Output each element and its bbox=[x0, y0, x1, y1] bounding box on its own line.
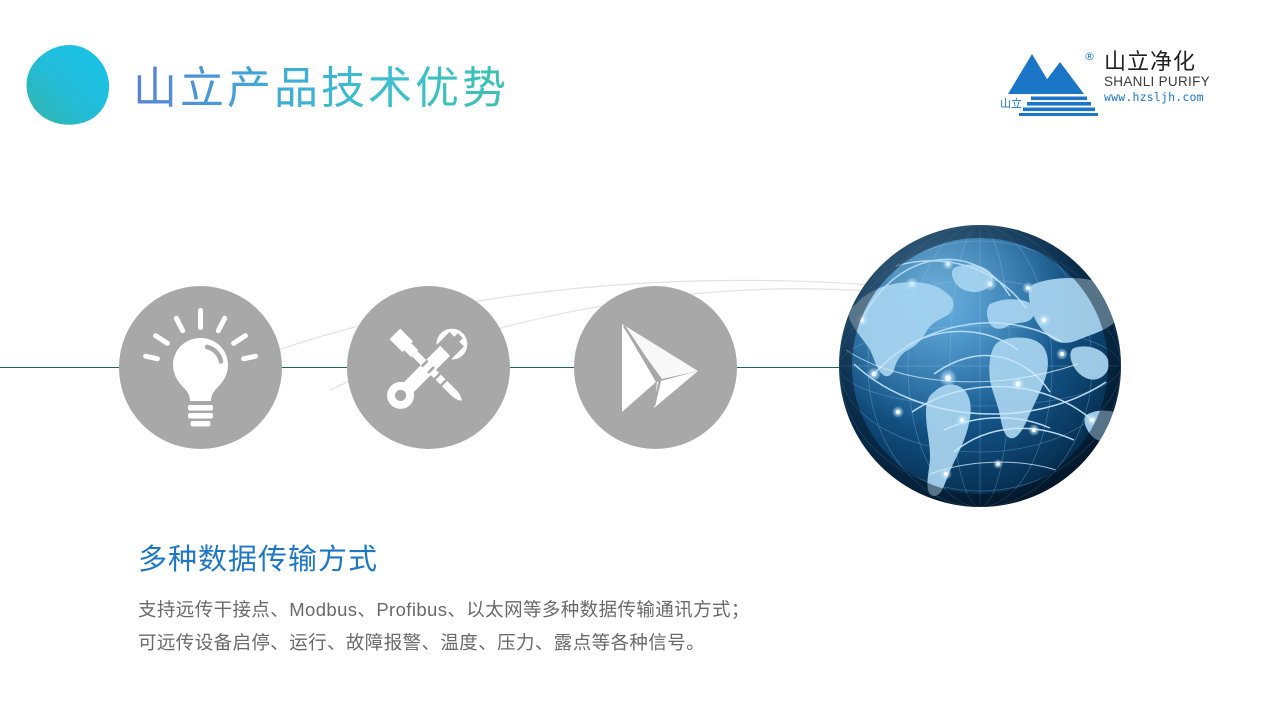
node-tools[interactable] bbox=[347, 286, 510, 449]
content-body-line-1: 支持远传干接点、Modbus、Profibus、以太网等多种数据传输通讯方式； bbox=[138, 593, 750, 626]
logo-wordmark: 山立净化 SHANLI PURIFY www.hzsljh.com bbox=[1104, 49, 1226, 104]
logo-company-cn: 山立净化 bbox=[1104, 49, 1226, 74]
logo-website: www.hzsljh.com bbox=[1104, 90, 1226, 104]
node-paper-plane[interactable] bbox=[574, 286, 737, 449]
node-lightbulb[interactable] bbox=[119, 286, 282, 449]
tools-wrench-screwdriver-icon bbox=[347, 286, 510, 449]
paper-plane-icon bbox=[574, 286, 737, 449]
slide-canvas: 山立产品技术优势 ® 山立 山立净化 SHANLI PURIFY www.hzs… bbox=[0, 0, 1280, 720]
logo-mark-caption: 山立 bbox=[1000, 98, 1022, 111]
registered-trademark-icon: ® bbox=[1084, 50, 1095, 63]
content-body: 支持远传干接点、Modbus、Profibus、以太网等多种数据传输通讯方式； … bbox=[138, 593, 750, 659]
content-heading: 多种数据传输方式 bbox=[138, 541, 378, 579]
logo-company-en: SHANLI PURIFY bbox=[1104, 74, 1226, 90]
lightbulb-icon bbox=[119, 286, 282, 449]
organic-blob-icon bbox=[22, 44, 112, 126]
company-logo: ® 山立 山立净化 SHANLI PURIFY www.hzsljh.com bbox=[1000, 48, 1225, 120]
content-body-line-2: 可远传设备启停、运行、故障报警、温度、压力、露点等各种信号。 bbox=[138, 626, 750, 659]
page-title: 山立产品技术优势 bbox=[133, 58, 509, 120]
network-globe-image bbox=[838, 224, 1122, 508]
